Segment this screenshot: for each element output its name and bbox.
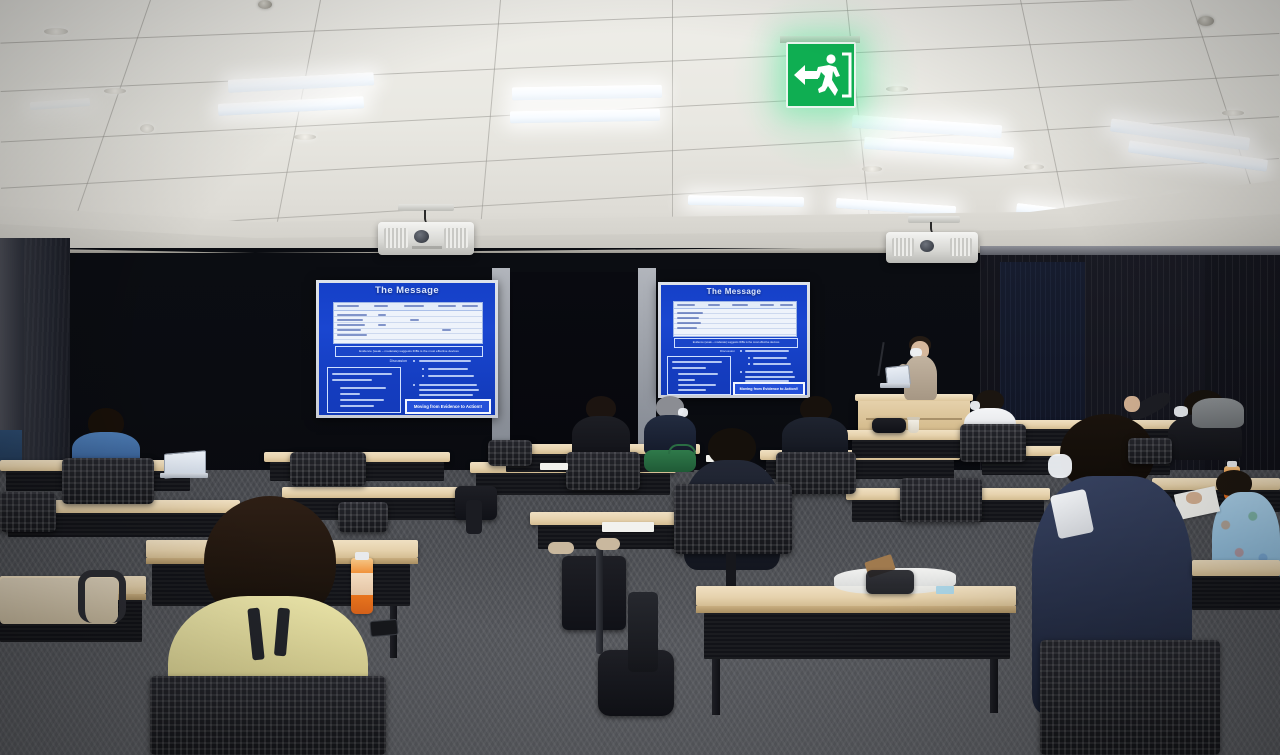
slide-section-label: Discussion	[699, 349, 735, 353]
projection-screen-right: The Message Evidence (weak – moderate) s…	[658, 282, 810, 398]
chair	[338, 502, 388, 532]
slide-data-table	[333, 302, 483, 344]
bottle-cap	[1227, 461, 1237, 467]
smartphone	[369, 619, 398, 637]
projector-label	[412, 246, 442, 249]
attendee-dark-suit-mid	[782, 396, 848, 458]
slide-left: The Message Evid	[319, 283, 495, 415]
slide-highlight-band: Evidence (weak – moderate) suggests IDBs…	[674, 338, 798, 348]
slide-side-box	[667, 356, 731, 395]
sprinkler-head	[258, 0, 272, 9]
blind-rail	[980, 246, 1280, 255]
downlight	[862, 166, 882, 172]
chair	[290, 452, 366, 486]
chair	[566, 452, 640, 490]
backpack	[562, 556, 626, 630]
slide-call-to-action: Moving from Evidence to Action!!	[405, 399, 491, 414]
attendee-face-mask	[1048, 454, 1072, 478]
lecture-hall-photo: The Message Evid	[0, 0, 1280, 755]
paper-coffee-cup	[908, 419, 919, 433]
cup-lid	[907, 417, 920, 420]
desk-edge	[696, 606, 1016, 613]
downlight	[104, 88, 126, 94]
slide-title: The Message	[319, 283, 495, 298]
presenter-laptop-base	[880, 383, 910, 388]
slide-side-box	[327, 367, 401, 413]
slide-data-table	[673, 301, 797, 337]
slide-title: The Message	[661, 285, 807, 298]
desk-modesty-panel	[704, 613, 1010, 659]
rolling-case	[628, 592, 658, 672]
downlight	[140, 124, 154, 133]
bag-on-desk	[872, 418, 906, 433]
papers	[540, 463, 568, 470]
downlight	[44, 28, 68, 35]
chair	[1128, 438, 1172, 464]
exit-pictogram-icon	[788, 44, 854, 106]
chair	[150, 676, 386, 755]
attendee-shoe	[548, 542, 574, 554]
suitcase-handle	[596, 548, 603, 654]
slide-right: The Message Evidence (weak – moderate) s…	[661, 285, 807, 395]
desk	[1192, 560, 1280, 576]
bag-tag	[936, 586, 954, 594]
slide-highlight-band: Evidence (weak – moderate) suggests IDBs…	[335, 346, 483, 357]
downlight	[1024, 164, 1044, 170]
attendee-leg	[466, 500, 482, 534]
downlight	[886, 86, 908, 92]
sprinkler-head	[1198, 16, 1214, 26]
downlight	[294, 134, 316, 140]
downlight	[1222, 110, 1244, 116]
ceiling-light-fixture	[512, 85, 662, 101]
attendee-shoe	[596, 538, 620, 550]
attendee-black-jacket-center	[572, 396, 630, 456]
backpack	[866, 570, 914, 594]
raised-hand	[1124, 396, 1140, 412]
desk-leg	[712, 659, 720, 715]
projection-screen-left: The Message Evid	[316, 280, 498, 418]
chair	[0, 492, 56, 532]
laptop-base	[160, 473, 208, 478]
chair	[488, 440, 532, 466]
chair	[62, 458, 154, 504]
chair	[900, 478, 982, 522]
attendee-hood	[1192, 398, 1244, 428]
slide-section-label: Discussion	[365, 359, 407, 363]
chair	[674, 484, 792, 554]
ceiling-light-fixture	[688, 195, 804, 207]
slide-call-to-action: Moving from Evidence to Action!!	[733, 382, 805, 395]
chair	[960, 424, 1026, 462]
chair	[1040, 640, 1220, 755]
tote-bag-strap	[78, 570, 126, 623]
desk-modesty-panel	[1192, 576, 1280, 610]
desk-leg	[990, 659, 998, 713]
papers	[602, 522, 654, 532]
exit-sign	[786, 42, 856, 108]
